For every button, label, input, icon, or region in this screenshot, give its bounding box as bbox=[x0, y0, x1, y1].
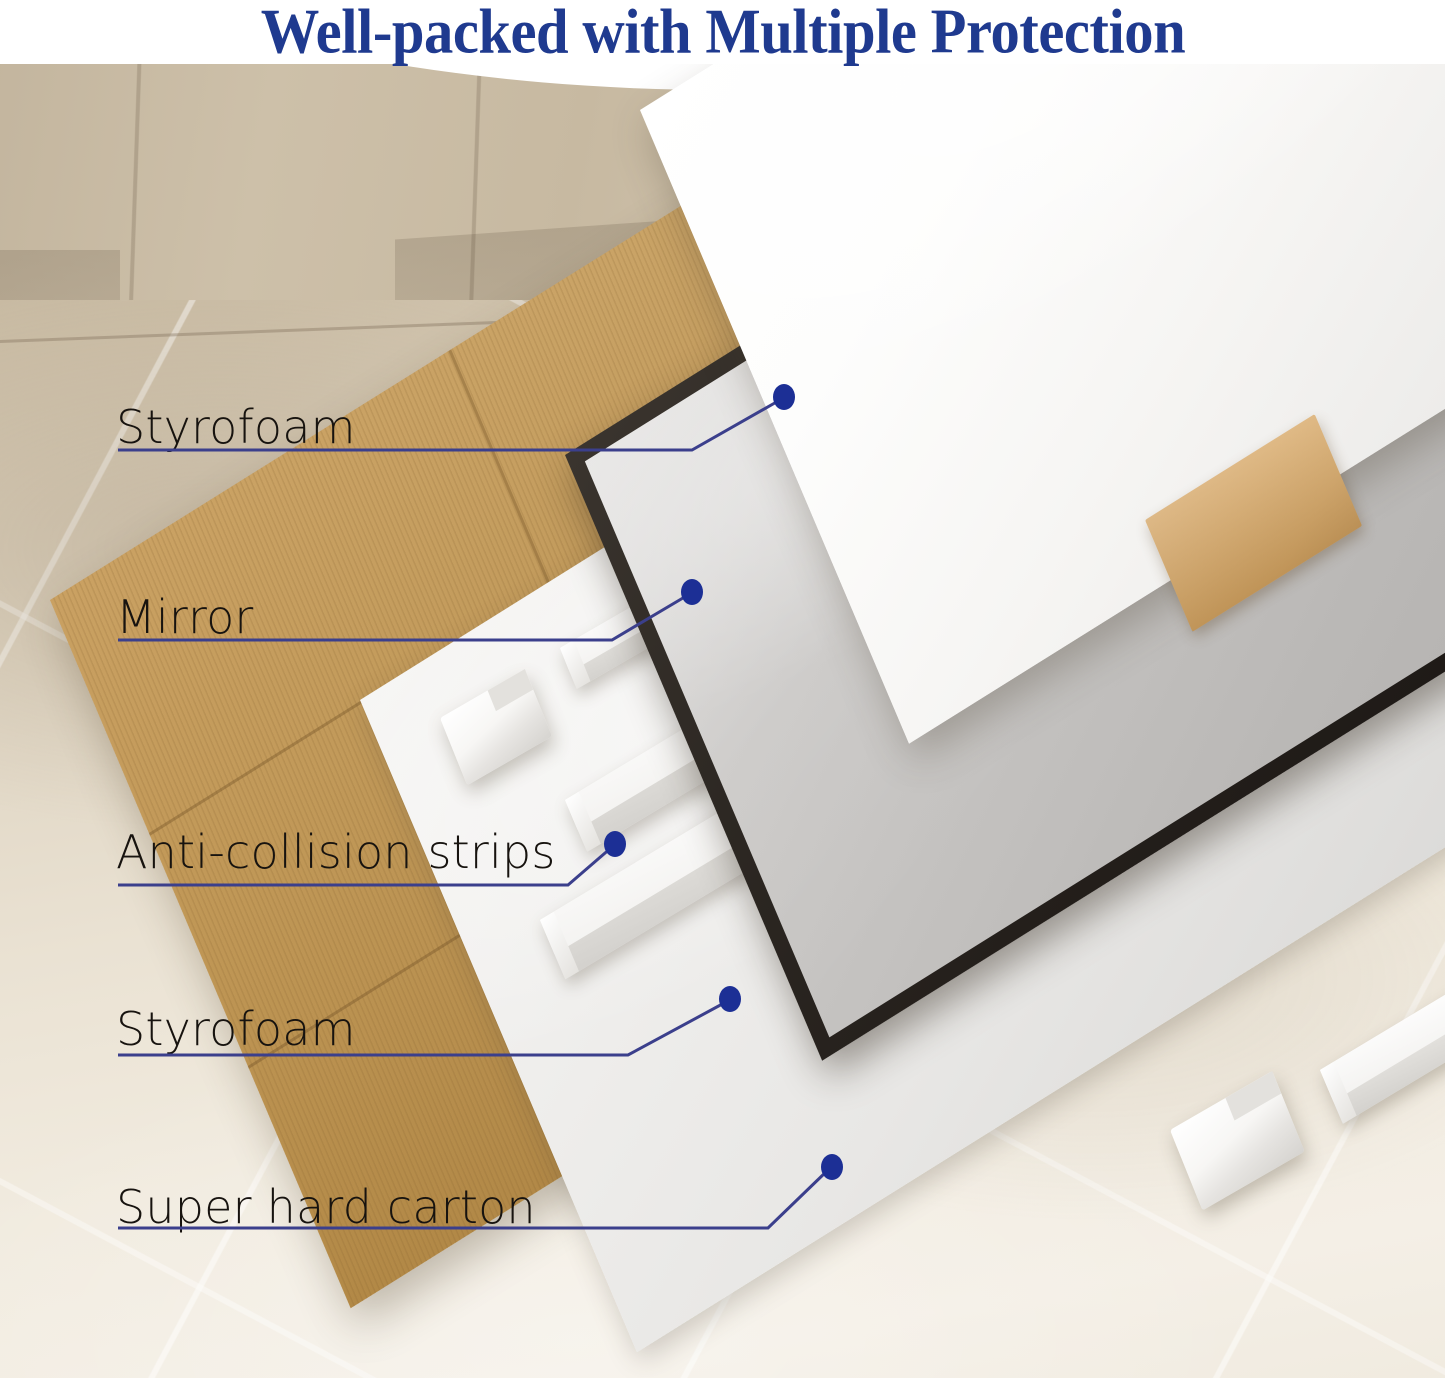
callout-leader-line bbox=[116, 380, 816, 470]
callout-leader-line bbox=[116, 972, 816, 1072]
callout-leader-line bbox=[116, 805, 676, 895]
callout-leader-line bbox=[116, 1140, 916, 1250]
title-bar: Well-packed with Multiple Protection bbox=[0, 0, 1445, 64]
callout-super-hard-carton: Super hard carton bbox=[116, 1140, 896, 1250]
callout-mirror: Mirror bbox=[116, 570, 716, 660]
infographic-root: Well-packed with Multiple Protection Sty… bbox=[0, 0, 1445, 1378]
callout-leader-line bbox=[116, 570, 736, 660]
callout-styrofoam-bottom: Styrofoam bbox=[116, 972, 796, 1072]
callout-anti-collision-strips: Anti-collision strips bbox=[116, 805, 656, 895]
page-title: Well-packed with Multiple Protection bbox=[260, 0, 1184, 69]
callout-styrofoam-top: Styrofoam bbox=[116, 380, 796, 470]
